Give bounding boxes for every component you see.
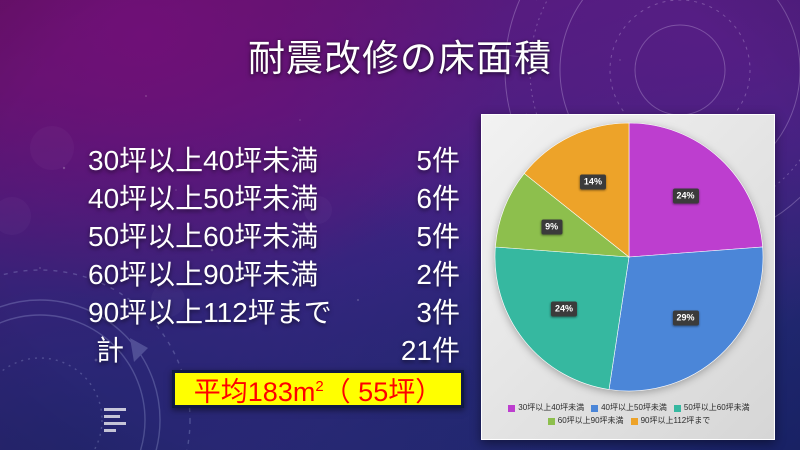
legend-label: 50坪以上60坪未満 bbox=[684, 403, 750, 413]
chart-legend: 30坪以上40坪未満40坪以上50坪未満50坪以上60坪未満60坪以上90坪未満… bbox=[490, 403, 768, 426]
list-item-value: 5件 bbox=[388, 218, 460, 256]
average-prefix: 平均183m bbox=[194, 377, 316, 407]
list-item-total: 計 21件 bbox=[88, 332, 460, 370]
list-item: 90坪以上112坪まで 3件 bbox=[88, 294, 460, 332]
legend-swatch-icon bbox=[508, 405, 515, 412]
list-item-value: 5件 bbox=[388, 142, 460, 180]
square-superscript: 2 bbox=[315, 378, 323, 395]
legend-label: 30坪以上40坪未満 bbox=[518, 403, 584, 413]
pie-chart-panel: 24%29%24%9%14% 30坪以上40坪未満40坪以上50坪未満50坪以上… bbox=[481, 114, 775, 440]
floor-area-list: 30坪以上40坪未満 5件 40坪以上50坪未満 6件 50坪以上60坪未満 5… bbox=[88, 142, 460, 370]
list-item-value: 3件 bbox=[388, 294, 460, 332]
list-item: 40坪以上50坪未満 6件 bbox=[88, 180, 460, 218]
list-item: 30坪以上40坪未満 5件 bbox=[88, 142, 460, 180]
average-area-callout: 平均183m2（ 55坪） bbox=[172, 370, 464, 408]
list-item-label: 40坪以上50坪未満 bbox=[88, 180, 318, 218]
list-item-value: 2件 bbox=[388, 256, 460, 294]
legend-item[interactable]: 30坪以上40坪未満 bbox=[508, 403, 584, 413]
list-item-label: 計 bbox=[88, 332, 124, 370]
pie-chart bbox=[493, 121, 765, 393]
pie-slice bbox=[495, 247, 629, 390]
list-item-label: 50坪以上60坪未満 bbox=[88, 218, 318, 256]
page-title: 耐震改修の床面積 bbox=[0, 36, 800, 82]
list-item-value: 6件 bbox=[388, 180, 460, 218]
pie-chart-area: 24%29%24%9%14% bbox=[493, 121, 765, 393]
list-item-label: 60坪以上90坪未満 bbox=[88, 256, 318, 294]
pie-percent-label: 24% bbox=[672, 189, 698, 204]
legend-item[interactable]: 60坪以上90坪未満 bbox=[548, 416, 624, 426]
legend-label: 60坪以上90坪未満 bbox=[558, 416, 624, 426]
list-item-label: 30坪以上40坪未満 bbox=[88, 142, 318, 180]
pie-percent-label: 29% bbox=[672, 310, 698, 325]
average-area-text: 平均183m2（ 55坪） bbox=[194, 372, 442, 407]
average-suffix: （ 55坪） bbox=[324, 377, 443, 407]
legend-item[interactable]: 40坪以上50坪未満 bbox=[591, 403, 667, 413]
legend-item[interactable]: 50坪以上60坪未満 bbox=[674, 403, 750, 413]
list-item: 60坪以上90坪未満 2件 bbox=[88, 256, 460, 294]
pie-percent-label: 14% bbox=[580, 175, 606, 190]
legend-swatch-icon bbox=[548, 418, 555, 425]
decorative-bars-graphic bbox=[104, 406, 132, 436]
list-item-value: 21件 bbox=[388, 332, 460, 370]
pie-percent-label: 24% bbox=[551, 301, 577, 316]
legend-swatch-icon bbox=[591, 405, 598, 412]
list-item-label: 90坪以上112坪まで bbox=[88, 294, 332, 332]
legend-label: 90坪以上112坪まで bbox=[641, 416, 711, 426]
legend-item[interactable]: 90坪以上112坪まで bbox=[631, 416, 711, 426]
legend-swatch-icon bbox=[674, 405, 681, 412]
slide-canvas: 耐震改修の床面積 30坪以上40坪未満 5件 40坪以上50坪未満 6件 50坪… bbox=[0, 0, 800, 450]
legend-label: 40坪以上50坪未満 bbox=[601, 403, 667, 413]
legend-swatch-icon bbox=[631, 418, 638, 425]
pie-percent-label: 9% bbox=[541, 219, 562, 234]
list-item: 50坪以上60坪未満 5件 bbox=[88, 218, 460, 256]
